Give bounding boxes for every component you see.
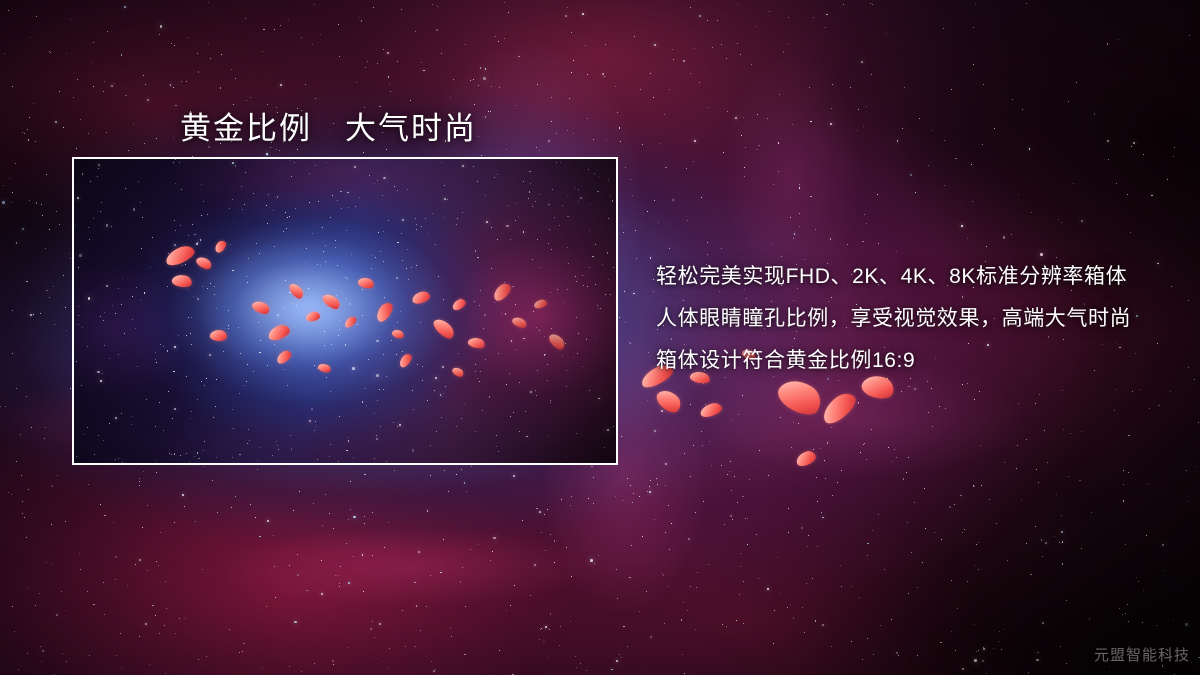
petal xyxy=(653,385,684,416)
petal xyxy=(818,388,860,427)
body-line-2: 人体眼睛瞳孔比例，享受视觉效果，高端大气时尚 xyxy=(656,298,1156,340)
body-text-block: 轻松完美实现FHD、2K、4K、8K标准分辨率箱体 人体眼睛瞳孔比例，享受视觉效… xyxy=(656,256,1156,382)
golden-ratio-display-panel[interactable] xyxy=(72,157,618,465)
slide-canvas: 黄金比例 大气时尚 轻松完美实现FHD、2K、4K、8K标准分辨率箱体 人体眼睛… xyxy=(0,0,1200,675)
body-line-1: 轻松完美实现FHD、2K、4K、8K标准分辨率箱体 xyxy=(656,256,1156,298)
petal xyxy=(794,449,817,468)
page-title: 黄金比例 大气时尚 xyxy=(180,103,477,148)
petal xyxy=(699,401,723,419)
body-line-3: 箱体设计符合黄金比例16:9 xyxy=(656,340,1156,382)
watermark: 元盟智能科技 xyxy=(1094,644,1190,665)
panel-vignette xyxy=(74,159,616,463)
